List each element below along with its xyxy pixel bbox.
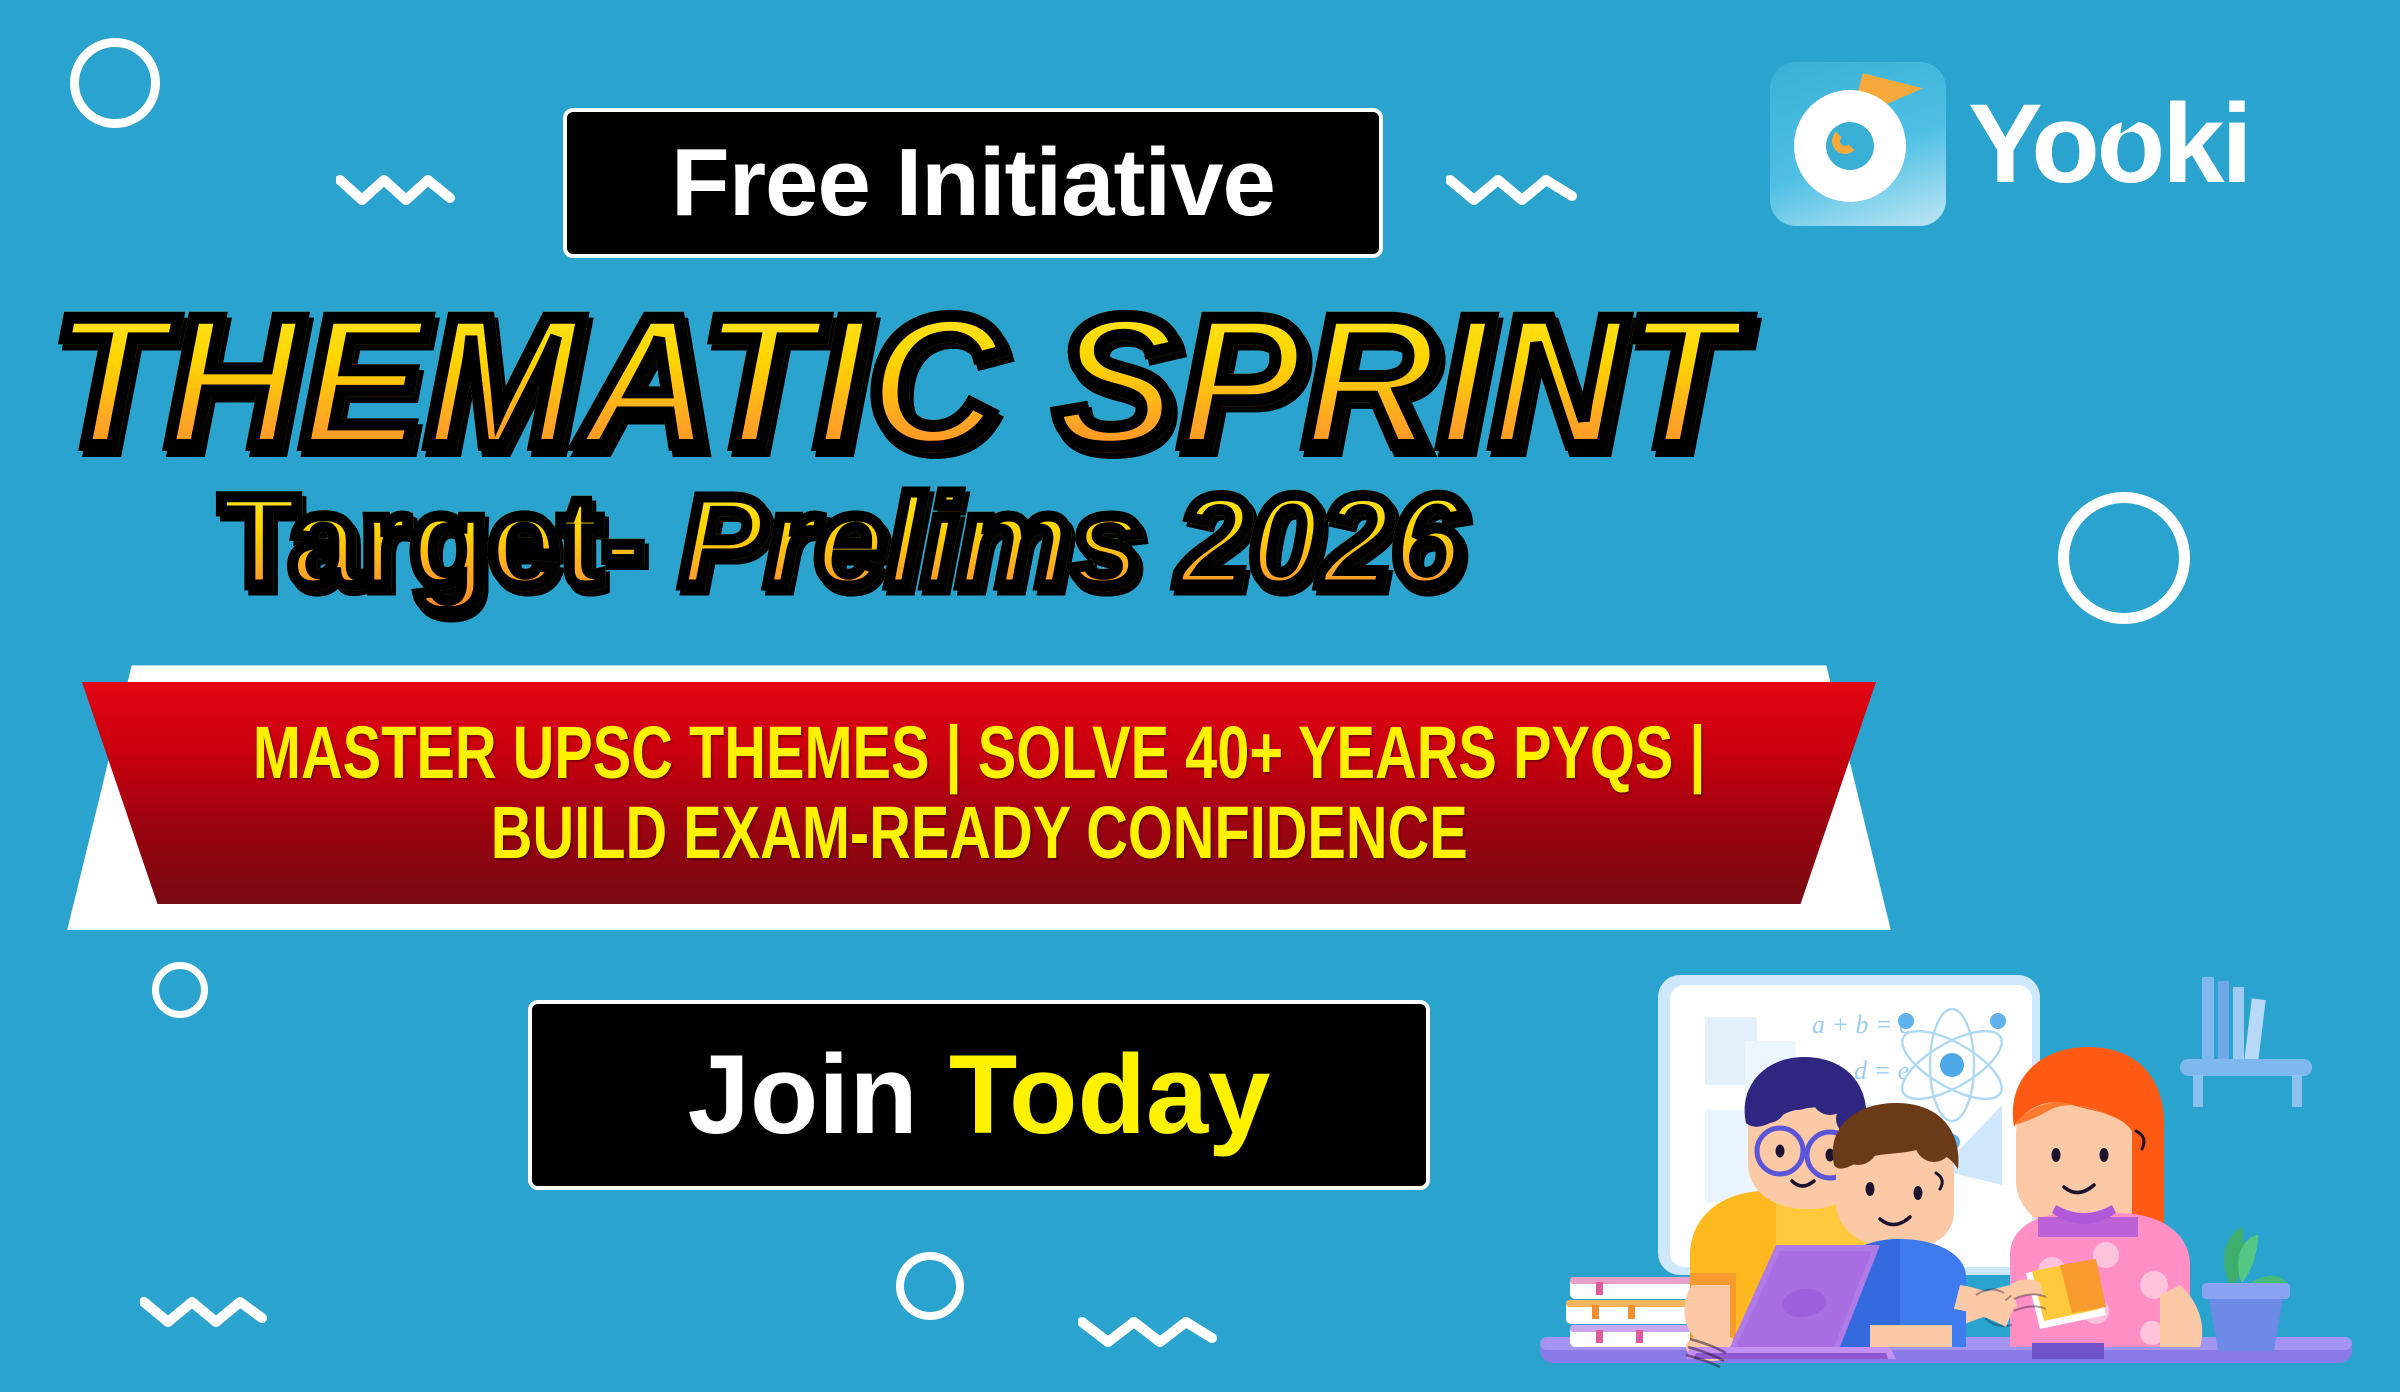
- logo-triangle-accent-icon: [2120, 108, 2153, 138]
- study-illustration: a + b = c c + d = e: [1540, 955, 2400, 1392]
- decor-zigzag-bottom-left: [140, 1290, 275, 1330]
- potted-plant-icon: [2202, 1227, 2290, 1351]
- ribbon-line-2: BUILD EXAM-READY CONFIDENCE: [490, 793, 1467, 873]
- decor-circle-bottom-left: [152, 962, 208, 1018]
- page-title: THEMATIC SPRINT: [52, 290, 1739, 475]
- ribbon-line-1: MASTER UPSC THEMES | SOLVE 40+ YEARS PYQ…: [253, 713, 1706, 793]
- free-initiative-label: Free Initiative: [671, 135, 1275, 231]
- ribbon-body: MASTER UPSC THEMES | SOLVE 40+ YEARS PYQ…: [58, 682, 1900, 904]
- promo-banner: Free Initiative Yooki THEMATIC SPRINT Ta…: [0, 0, 2400, 1392]
- subtitle-target: Target-: [220, 470, 680, 613]
- join-word: Join: [688, 1032, 949, 1157]
- decor-zigzag-top-left: [336, 168, 466, 208]
- wall-bookshelf-icon: [2180, 977, 2312, 1107]
- decor-circle-top-left: [70, 38, 160, 128]
- today-word: Today: [949, 1032, 1271, 1157]
- decor-circle-right: [2058, 492, 2190, 624]
- feature-ribbon: MASTER UPSC THEMES | SOLVE 40+ YEARS PYQ…: [58, 660, 1900, 930]
- decor-circle-bottom-mid: [896, 1252, 964, 1320]
- decor-zigzag-bottom-mid: [1078, 1310, 1228, 1350]
- yooki-ring-icon: [1770, 62, 1946, 226]
- decor-zigzag-top-right: [1446, 168, 1591, 208]
- join-today-button[interactable]: Join Today: [528, 1000, 1430, 1190]
- free-initiative-badge: Free Initiative: [563, 108, 1383, 258]
- brand-logo: Yooki: [1770, 62, 2250, 226]
- brand-name-text: Yooki: [1968, 81, 2250, 206]
- join-today-label: Join Today: [688, 1039, 1271, 1151]
- brand-name: Yooki: [1968, 88, 2250, 200]
- whiteboard-equation-1: a + b = c: [1812, 1010, 1911, 1039]
- page-subtitle: Target- Prelims 2026: [220, 478, 1463, 606]
- subtitle-prelims: Prelims 2026: [680, 470, 1463, 613]
